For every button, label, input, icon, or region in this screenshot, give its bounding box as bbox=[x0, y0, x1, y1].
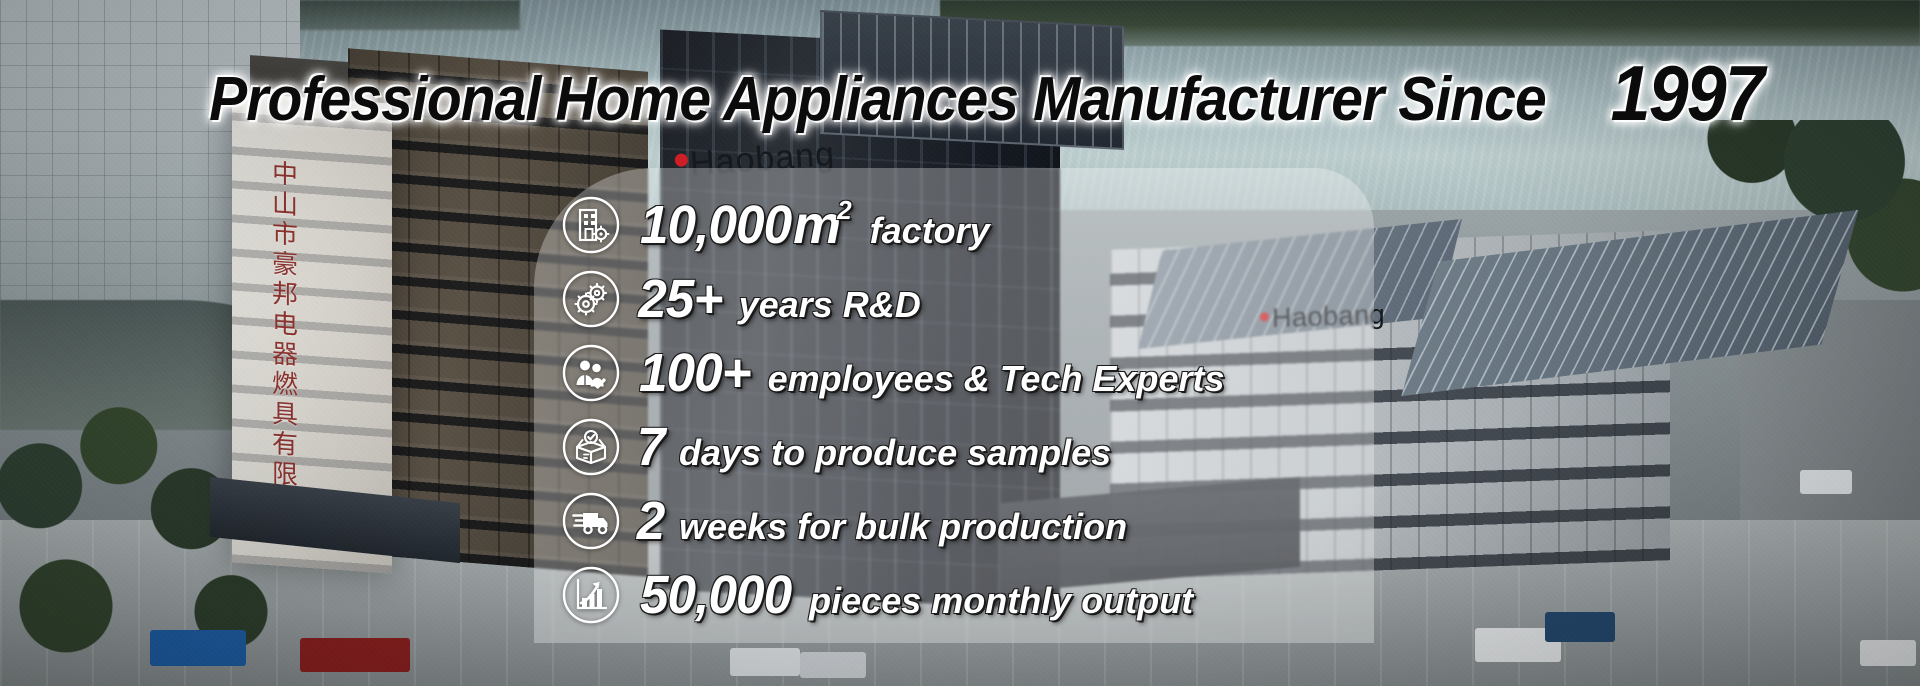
stat-text-factory: 10,000m2factory bbox=[636, 198, 990, 252]
stat-row-samples: 7days to produce samples bbox=[560, 412, 1440, 482]
stat-text-output: 50,000pieces monthly output bbox=[636, 568, 1193, 622]
stat-label: employees & Tech Experts bbox=[768, 361, 1225, 397]
stat-text-rnd: 25+years R&D bbox=[636, 272, 921, 326]
stat-text-employees: 100+employees & Tech Experts bbox=[636, 346, 1225, 400]
vehicle bbox=[1860, 640, 1916, 666]
stat-superscript: 2 bbox=[837, 195, 851, 226]
stat-row-output: 50,000pieces monthly output bbox=[560, 560, 1440, 630]
vehicle bbox=[730, 648, 800, 676]
stat-number: 25+ bbox=[638, 272, 722, 326]
stat-unit: m bbox=[793, 198, 841, 252]
stat-row-factory: 10,000m2factory bbox=[560, 190, 1440, 260]
stat-label: weeks for bulk production bbox=[679, 509, 1127, 545]
promo-banner: 中山市豪邦电器燃具有限公司 Haobang Haobang Profession… bbox=[0, 0, 1920, 686]
stat-text-bulk: 2weeks for bulk production bbox=[636, 494, 1127, 548]
vehicle bbox=[800, 652, 866, 678]
stat-number: 7 bbox=[637, 420, 665, 474]
stat-label: days to produce samples bbox=[679, 435, 1111, 471]
stats-list: 10,000m2factory bbox=[560, 190, 1440, 634]
box-check-icon bbox=[560, 416, 622, 478]
delivery-truck-icon bbox=[560, 490, 622, 552]
stat-number: 100+ bbox=[639, 346, 751, 400]
stat-row-employees: 100+employees & Tech Experts bbox=[560, 338, 1440, 408]
vertical-chinese-sign: 中山市豪邦电器燃具有限公司 bbox=[268, 159, 302, 501]
stat-label: factory bbox=[870, 213, 990, 249]
stat-label: pieces monthly output bbox=[809, 583, 1193, 619]
stat-number: 2 bbox=[637, 494, 665, 548]
gears-icon bbox=[560, 268, 622, 330]
stat-row-rnd: 25+years R&D bbox=[560, 264, 1440, 334]
stat-number: 50,000 bbox=[640, 568, 791, 622]
growth-chart-icon bbox=[560, 564, 622, 626]
factory-gear-icon bbox=[560, 194, 622, 256]
stat-label: years R&D bbox=[739, 287, 921, 323]
rooftop-glass-structure bbox=[820, 10, 1124, 150]
vehicle bbox=[1545, 612, 1615, 642]
vehicle bbox=[150, 630, 246, 666]
stat-row-bulk: 2weeks for bulk production bbox=[560, 486, 1440, 556]
stat-text-samples: 7days to produce samples bbox=[636, 420, 1111, 474]
vehicle bbox=[1800, 470, 1852, 494]
team-check-icon bbox=[560, 342, 622, 404]
vehicle bbox=[300, 638, 410, 672]
stat-number: 10,000 bbox=[640, 198, 791, 252]
